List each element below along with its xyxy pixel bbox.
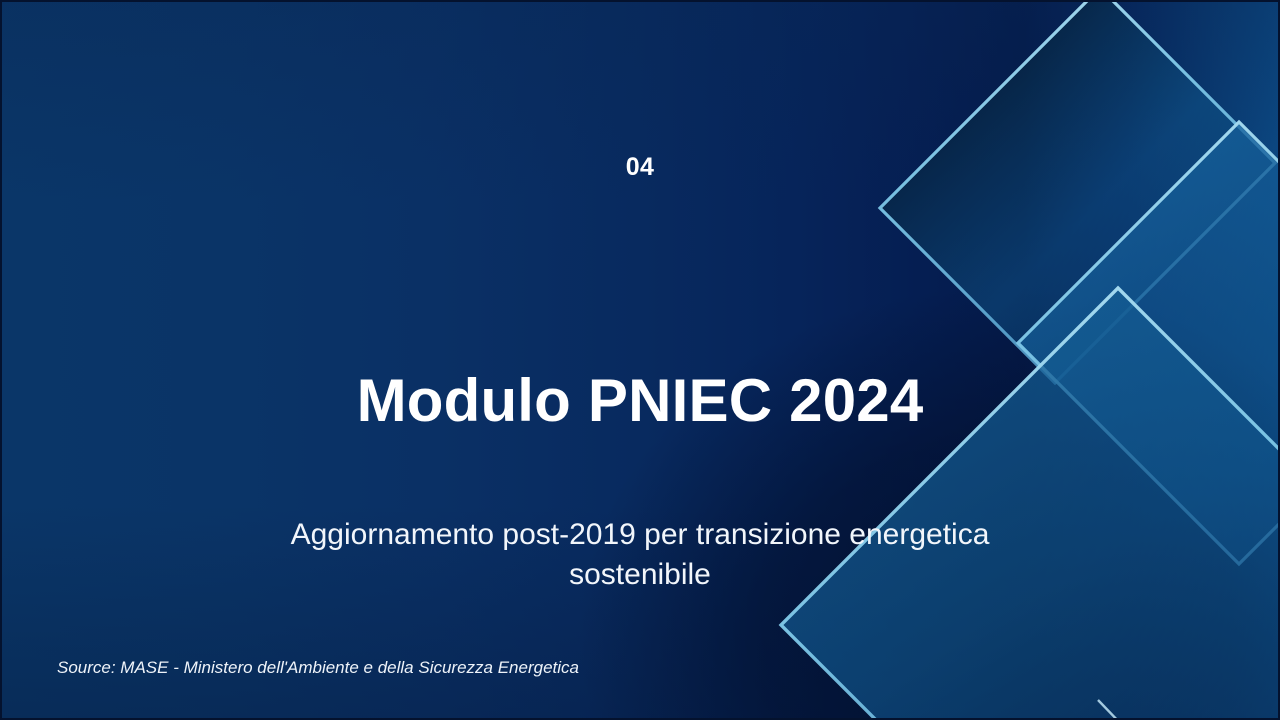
slide-subtitle: Aggiornamento post-2019 per transizione … [240, 515, 1040, 594]
page-title: Modulo PNIEC 2024 [0, 366, 1280, 435]
source-attribution: Source: MASE - Ministero dell'Ambiente e… [57, 657, 579, 679]
slide-number-label: 04 [0, 152, 1280, 182]
slide-content: 04 Modulo PNIEC 2024 Aggiornamento post-… [0, 0, 1280, 720]
presentation-slide: 04 Modulo PNIEC 2024 Aggiornamento post-… [0, 0, 1280, 720]
